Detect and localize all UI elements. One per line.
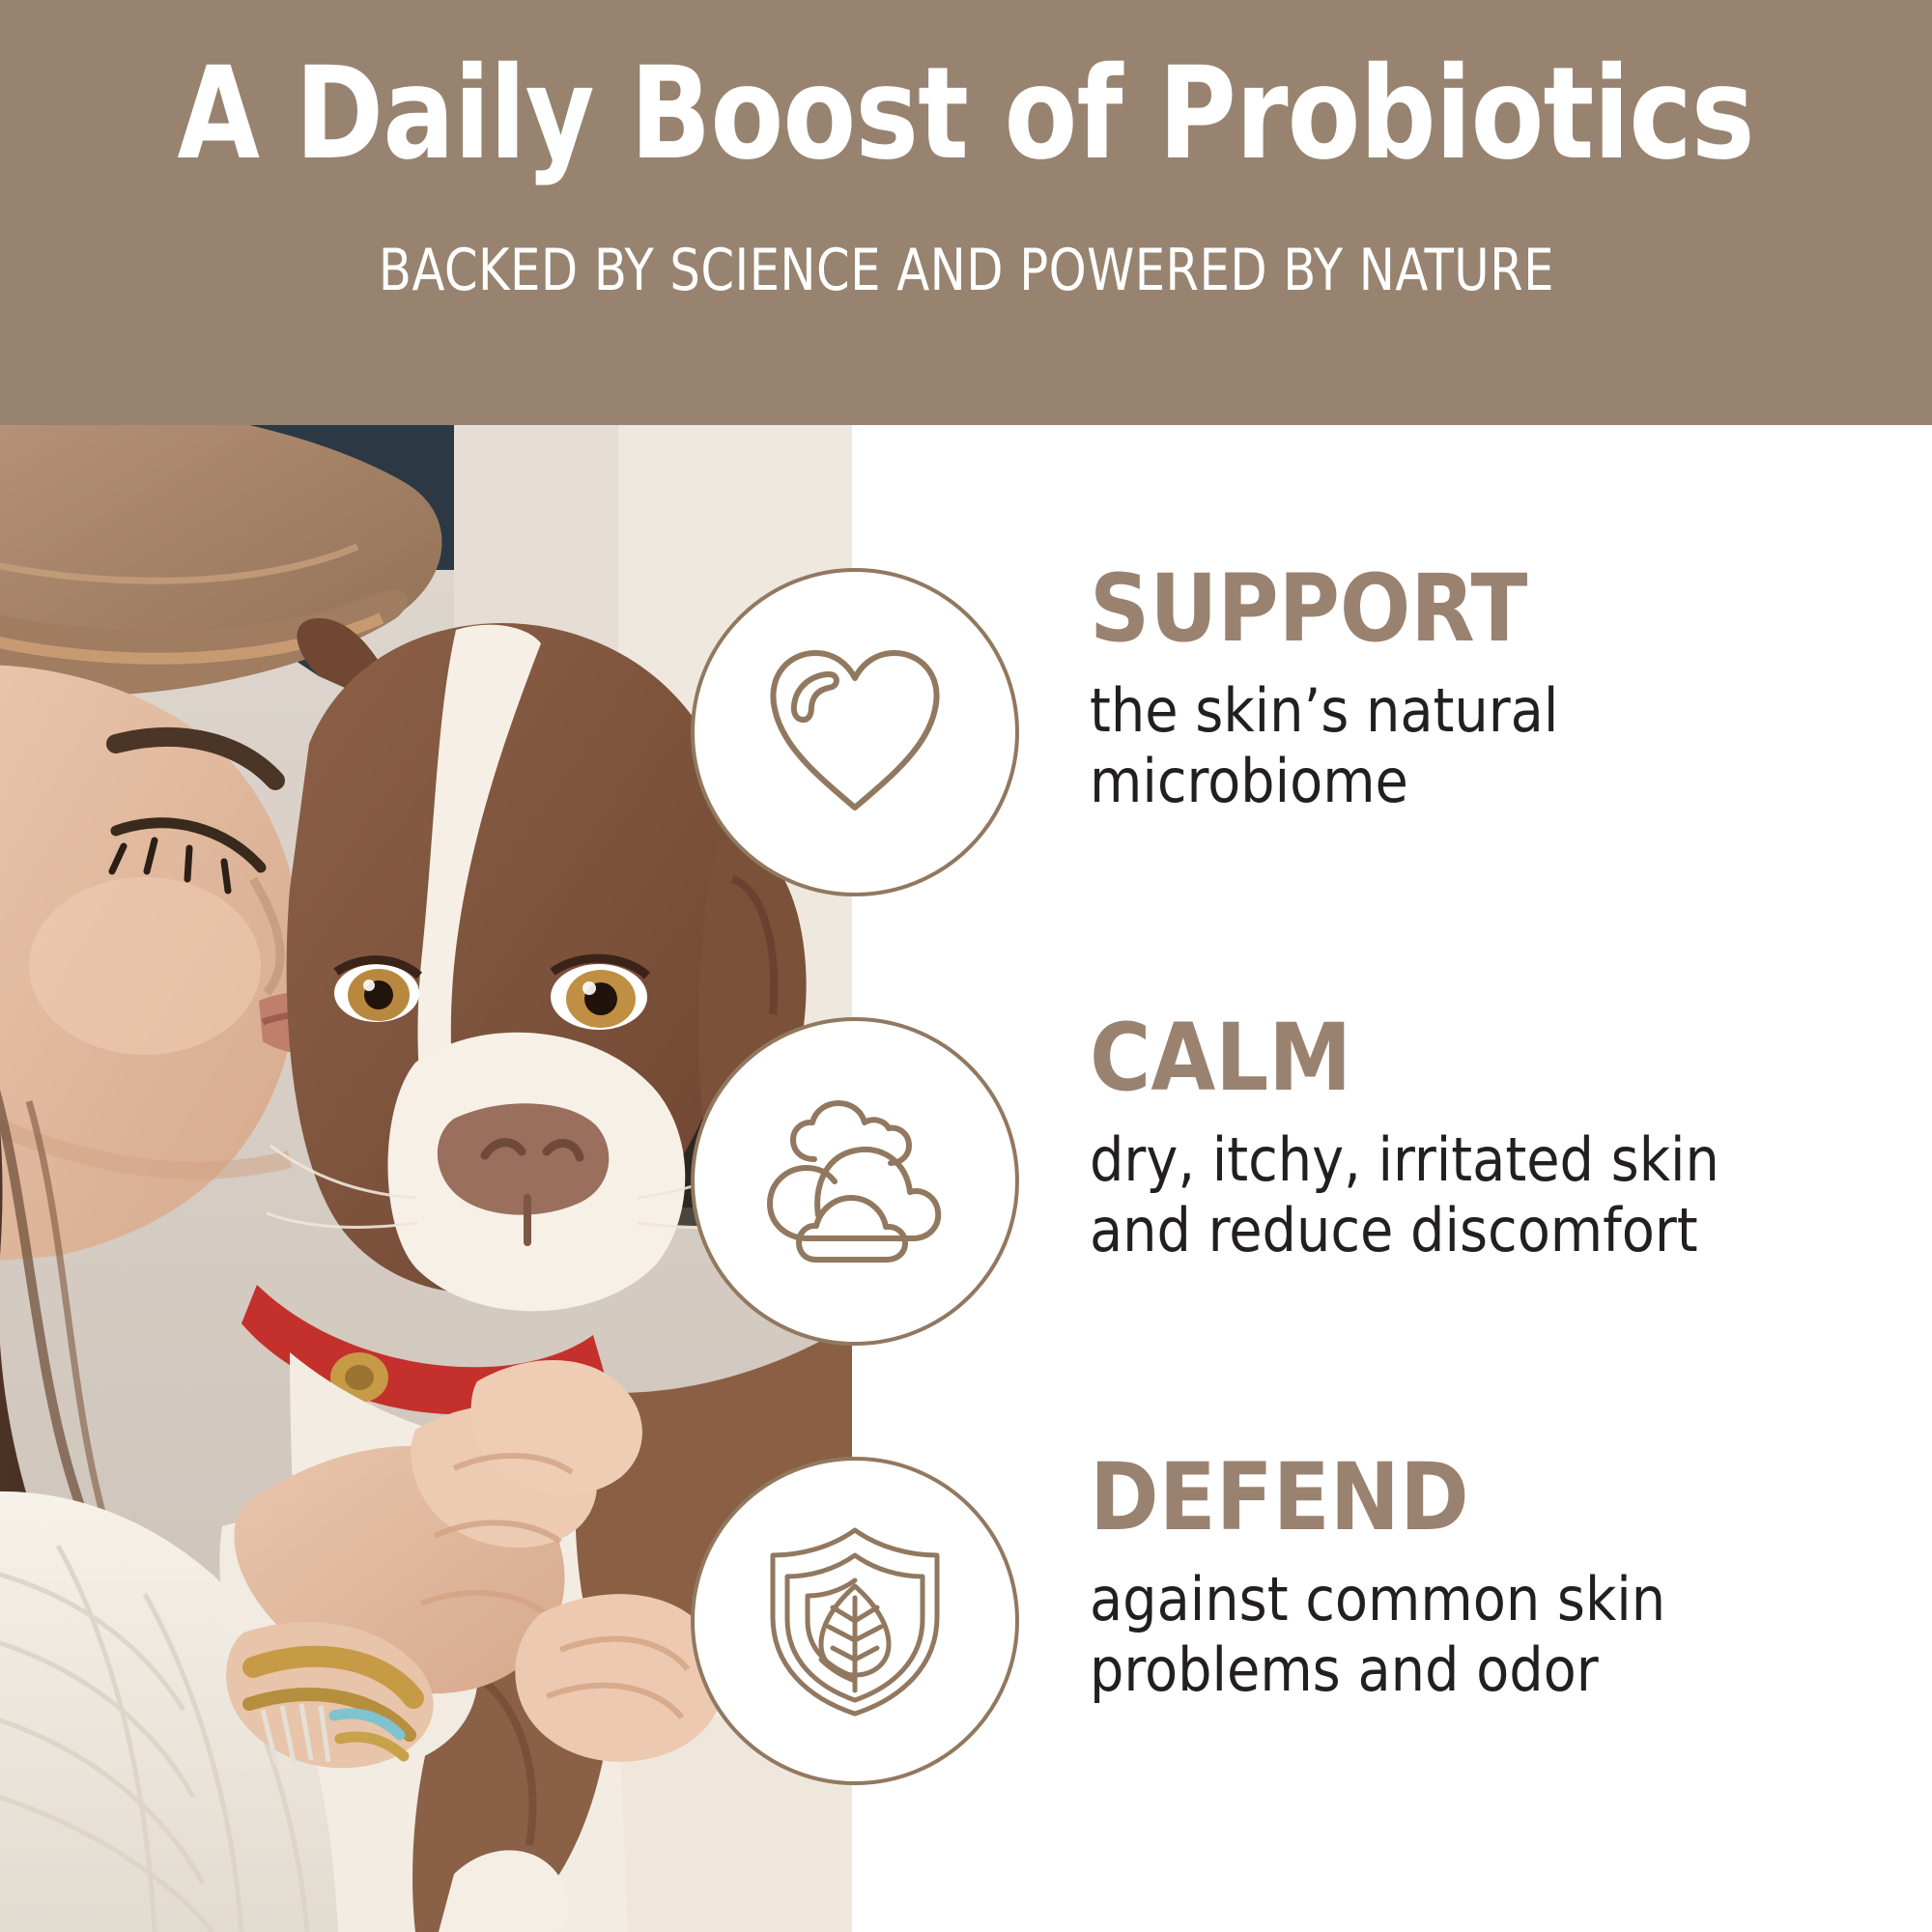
feature-text: SUPPORT the skin’s natural microbiome xyxy=(1090,562,1932,816)
features-panel: SUPPORT the skin’s natural microbiome xyxy=(852,425,1932,1932)
feature-heading: CALM xyxy=(1090,1011,1932,1104)
feature-calm: CALM dry, itchy, irritated skin and redu… xyxy=(852,1017,1932,1365)
promo-graphic: A Daily Boost of Probiotics BACKED BY SC… xyxy=(0,0,1932,1932)
feature-body-line: and reduce discomfort xyxy=(1090,1196,1932,1266)
header-banner: A Daily Boost of Probiotics BACKED BY SC… xyxy=(0,0,1932,425)
feature-icon-badge xyxy=(691,1457,1019,1785)
page-subtitle: BACKED BY SCIENCE AND POWERED BY NATURE xyxy=(378,241,1553,299)
clouds-icon xyxy=(758,1099,952,1264)
feature-body-line: against common skin xyxy=(1090,1565,1932,1635)
feature-heading: SUPPORT xyxy=(1090,562,1932,655)
feature-text: CALM dry, itchy, irritated skin and redu… xyxy=(1090,1011,1932,1265)
feature-body-line: dry, itchy, irritated skin xyxy=(1090,1125,1932,1196)
feature-body-line: problems and odor xyxy=(1090,1635,1932,1706)
heart-icon xyxy=(763,645,947,819)
feature-support: SUPPORT the skin’s natural microbiome xyxy=(852,568,1932,916)
feature-text: DEFEND against common skin problems and … xyxy=(1090,1451,1932,1705)
feature-defend: DEFEND against common skin problems and … xyxy=(852,1457,1932,1804)
feature-heading: DEFEND xyxy=(1090,1451,1932,1544)
shield-leaf-icon xyxy=(763,1524,947,1718)
feature-icon-badge xyxy=(691,1017,1019,1346)
feature-body: the skin’s natural microbiome xyxy=(1090,676,1932,816)
feature-body-line: microbiome xyxy=(1090,747,1932,817)
feature-body-line: the skin’s natural xyxy=(1090,676,1932,747)
feature-icon-badge xyxy=(691,568,1019,896)
feature-body: against common skin problems and odor xyxy=(1090,1565,1932,1705)
feature-body: dry, itchy, irritated skin and reduce di… xyxy=(1090,1125,1932,1265)
page-title: A Daily Boost of Probiotics xyxy=(178,50,1754,178)
